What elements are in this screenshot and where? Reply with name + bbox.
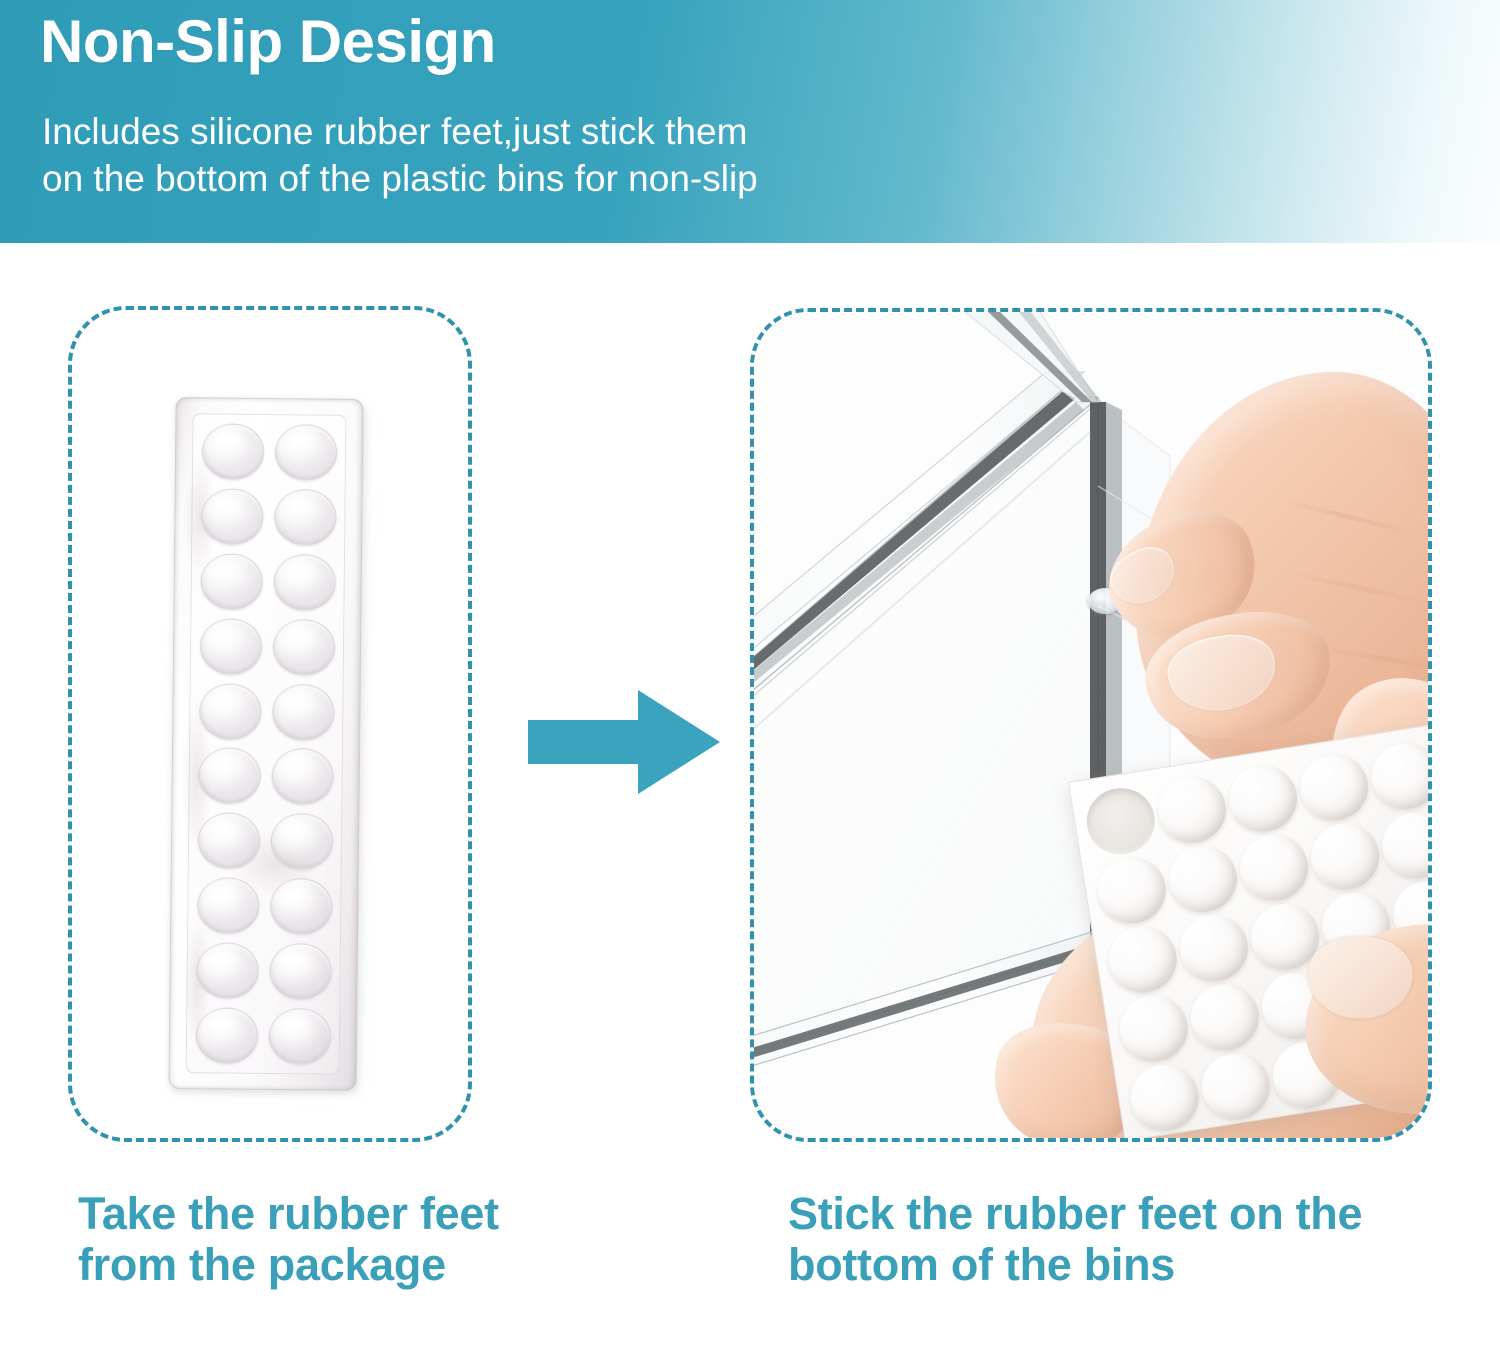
right-panel-caption: Stick the rubber feet on the bottom of t… [788,1188,1448,1291]
header-banner: Non-Slip Design Includes silicone rubber… [0,0,1500,243]
rubber-foot-dome [271,748,334,805]
rubber-foot-dome [1295,750,1372,826]
rubber-foot-dome [199,683,262,740]
left-panel-caption: Take the rubber feet from the package [78,1188,518,1291]
rubber-foot-dome [270,878,333,935]
banner-subtitle-line-1: Includes silicone rubber feet,just stick… [42,108,758,155]
rubber-foot-dome [1306,819,1383,895]
right-arrow-icon [528,690,720,794]
rubber-foot-dome [1104,922,1181,998]
rubber-foot-dome [197,877,260,934]
rubber-foot-dome [1224,761,1301,837]
rubber-foot-dome [1235,830,1312,906]
rubber-foot-dome [1153,772,1230,848]
blister-pack-panel [68,306,472,1142]
banner-subtitle: Includes silicone rubber feet,just stick… [42,108,758,203]
rubber-foot-dome [269,943,332,1000]
rubber-foot-dome [201,423,264,480]
bin-application-scene [754,312,1428,1138]
blister-pack-image [168,397,371,1099]
rubber-foot-dome [198,748,261,805]
rubber-foot-dome [272,619,335,676]
rubber-foot-dome [200,553,263,610]
rubber-foot-empty-slot [1082,783,1159,859]
rubber-feet-sheet [1068,716,1432,1141]
rubber-foot-dome [1126,1060,1203,1136]
rubber-foot-dome [197,813,260,870]
rubber-foot-dome [274,424,337,481]
rubber-foot-dome [270,813,333,870]
rubber-foot-dome [1164,841,1241,917]
rubber-foot-dome [272,684,335,741]
rubber-foot-dome [1197,1049,1274,1125]
applying-feet-panel [750,308,1432,1142]
rubber-foot-dome [199,618,262,675]
rubber-feet-grid [191,419,342,1068]
rubber-foot-dome [273,554,336,611]
rubber-foot-dome [1377,807,1432,883]
rubber-foot-dome [1186,979,1263,1055]
rubber-foot-dome [196,942,259,999]
banner-subtitle-line-2: on the bottom of the plastic bins for no… [42,155,758,202]
page-title: Non-Slip Design [40,12,496,72]
rubber-foot-dome [1366,738,1432,814]
rubber-foot-dome [1093,852,1170,928]
rubber-foot-dome [1175,910,1252,986]
rubber-foot-dome [195,1007,258,1064]
rubber-foot-dome [201,488,264,545]
rubber-foot-dome [268,1008,331,1065]
rubber-foot-dome [274,489,337,546]
rubber-foot-dome [1115,991,1192,1067]
